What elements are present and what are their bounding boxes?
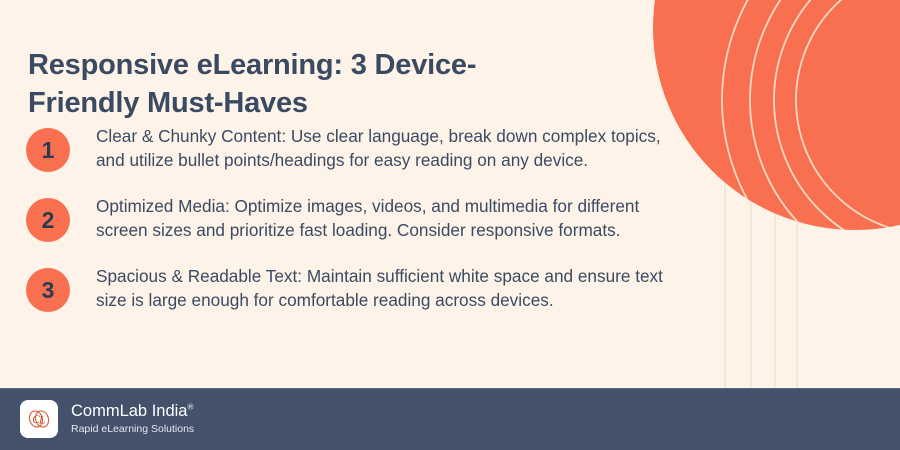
list-item: 3 Spacious & Readable Text: Maintain suf… <box>26 264 666 320</box>
list-item-text: Clear & Chunky Content: Use clear langua… <box>96 124 666 173</box>
commlab-logo-icon: C L <box>20 400 58 438</box>
decorative-orange-circle <box>653 0 900 230</box>
list-item: 1 Clear & Chunky Content: Use clear lang… <box>26 124 666 180</box>
brand-name-text: CommLab India <box>71 402 187 420</box>
list-item-text: Optimized Media: Optimize images, videos… <box>96 194 666 243</box>
footer-divider <box>0 388 900 389</box>
brand-lockup: CommLab India® Rapid eLearning Solutions <box>71 403 194 434</box>
brand-tagline: Rapid eLearning Solutions <box>71 424 194 435</box>
svg-text:L: L <box>38 415 45 427</box>
decorative-trailing-lines <box>725 150 797 388</box>
registered-trademark-icon: ® <box>187 403 193 412</box>
tips-list: 1 Clear & Chunky Content: Use clear lang… <box>26 124 666 334</box>
list-item-number-badge: 3 <box>26 268 70 312</box>
decorative-concentric-arcs <box>722 0 900 308</box>
footer-bar: C L CommLab India® Rapid eLearning Solut… <box>0 388 900 450</box>
list-item-text: Spacious & Readable Text: Maintain suffi… <box>96 264 666 313</box>
list-item: 2 Optimized Media: Optimize images, vide… <box>26 194 666 250</box>
brand-name: CommLab India® <box>71 403 194 420</box>
page-title: Responsive eLearning: 3 Device- Friendly… <box>28 47 588 121</box>
slide-canvas: Responsive eLearning: 3 Device- Friendly… <box>0 0 900 450</box>
page-title-line-2: Friendly Must-Haves <box>28 85 588 122</box>
list-item-number-badge: 1 <box>26 128 70 172</box>
page-title-line-1: Responsive eLearning: 3 Device- <box>28 47 588 84</box>
list-item-number-badge: 2 <box>26 198 70 242</box>
